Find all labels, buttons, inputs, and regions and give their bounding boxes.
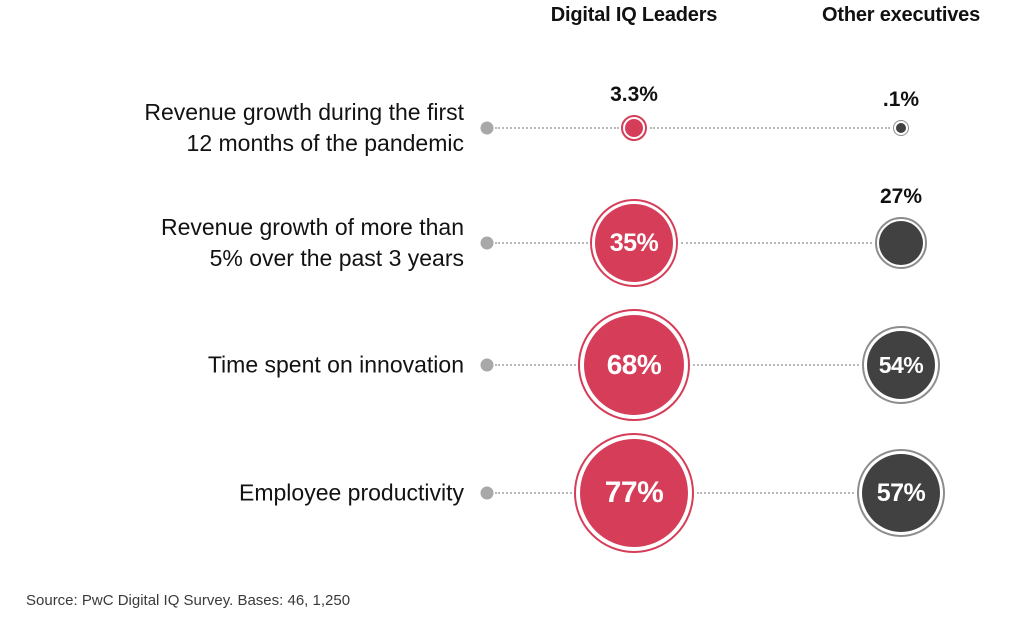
- bubble-fill: [625, 119, 643, 137]
- bubble-value-label: 77%: [605, 476, 664, 510]
- bubble-other-executives: [893, 120, 909, 136]
- source-note: Source: PwC Digital IQ Survey. Bases: 46…: [26, 592, 350, 609]
- bubble-other-executives: 54%: [862, 326, 940, 404]
- row-label-line: 5% over the past 3 years: [44, 243, 464, 274]
- row-category-label: Employee productivity: [44, 478, 464, 509]
- connector-line: [681, 242, 872, 244]
- column-header-digital-iq-leaders: Digital IQ Leaders: [551, 4, 717, 27]
- row-anchor-dot: [481, 122, 494, 135]
- row-category-label: Revenue growth of more than5% over the p…: [44, 212, 464, 274]
- bubble-digital-iq-leaders: 35%: [590, 199, 678, 287]
- bubble-value-label: 35%: [610, 229, 659, 258]
- row-label-line: Time spent on innovation: [44, 350, 464, 381]
- connector-line: [495, 127, 619, 129]
- row-anchor-dot: [481, 487, 494, 500]
- bubble-value-label: 57%: [877, 479, 926, 508]
- bubble-fill: [879, 221, 923, 265]
- bubble-value-label: 68%: [607, 349, 662, 381]
- connector-line: [693, 364, 859, 366]
- bubble-value-label: 54%: [879, 352, 924, 379]
- bubble-other-executives: [875, 217, 927, 269]
- value-label-other-executives: .1%: [883, 88, 919, 112]
- connector-line: [697, 492, 854, 494]
- bubble-fill: [896, 123, 906, 133]
- row-anchor-dot: [481, 237, 494, 250]
- column-header-other-executives: Other executives: [822, 4, 980, 27]
- bubble-digital-iq-leaders: [621, 115, 647, 141]
- bubble-digital-iq-leaders: 68%: [578, 309, 690, 421]
- row-anchor-dot: [481, 359, 494, 372]
- connector-line: [650, 127, 890, 129]
- connector-line: [495, 492, 572, 494]
- connector-line: [495, 364, 576, 366]
- row-category-label: Revenue growth during the first12 months…: [44, 97, 464, 159]
- row-label-line: 12 months of the pandemic: [44, 128, 464, 159]
- bubble-digital-iq-leaders: 77%: [574, 433, 694, 553]
- connector-line: [495, 242, 588, 244]
- row-label-line: Employee productivity: [44, 478, 464, 509]
- bubble-other-executives: 57%: [857, 449, 945, 537]
- row-label-line: Revenue growth of more than: [44, 212, 464, 243]
- bubble-comparison-chart: Digital IQ Leaders Other executives Reve…: [0, 0, 1024, 629]
- value-label-other-executives: 27%: [880, 185, 922, 209]
- value-label-digital-iq-leaders: 3.3%: [610, 83, 658, 107]
- row-label-line: Revenue growth during the first: [44, 97, 464, 128]
- row-category-label: Time spent on innovation: [44, 350, 464, 381]
